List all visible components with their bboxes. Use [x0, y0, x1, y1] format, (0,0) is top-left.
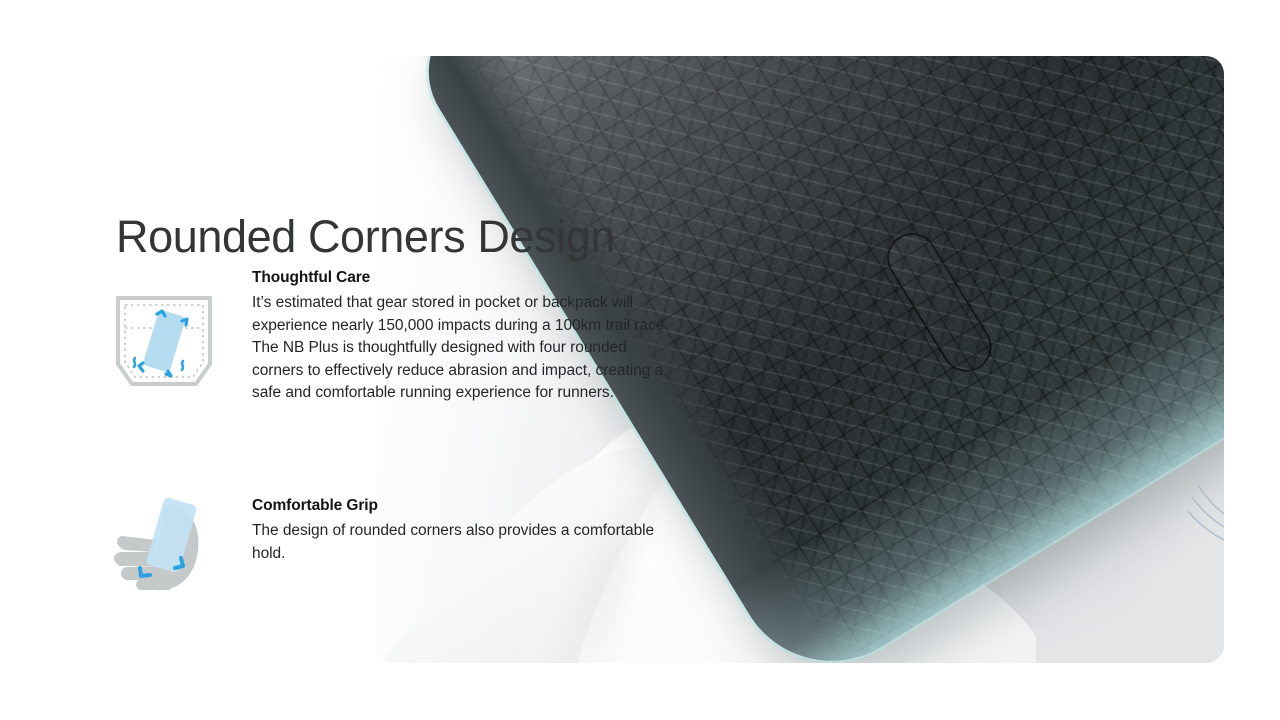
- phone-in-pocket-icon: [110, 292, 218, 392]
- hand-holding-device-icon: [110, 496, 218, 596]
- feature-heading: Comfortable Grip: [252, 496, 682, 516]
- feature-description: The design of rounded corners also provi…: [252, 520, 682, 565]
- feature-text-group: Thoughtful Care It’s estimated that gear…: [252, 268, 682, 405]
- slide-root: Rounded Corners Design Thoughtful Care I: [0, 0, 1280, 720]
- feature-text-group: Comfortable Grip The design of rounded c…: [252, 496, 682, 565]
- page-title: Rounded Corners Design: [116, 212, 615, 262]
- feature-description: It’s estimated that gear stored in pocke…: [252, 292, 682, 405]
- impact-ripple-arcs: [1186, 471, 1224, 561]
- feature-heading: Thoughtful Care: [252, 268, 682, 288]
